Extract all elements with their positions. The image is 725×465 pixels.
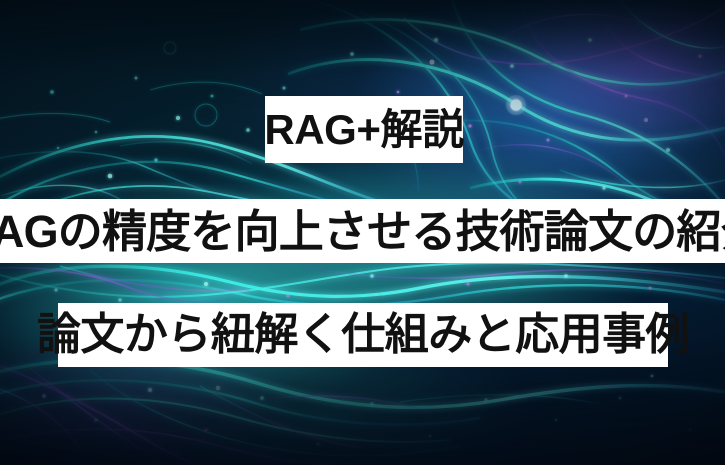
thumbnail-canvas: RAG+解説 RAGの精度を向上させる技術論文の紹介 論文から紐解く仕組みと応用… [0, 0, 725, 465]
eyebrow-text: RAG+解説 [264, 109, 463, 151]
eyebrow-band: RAG+解説 [265, 96, 463, 163]
subtitle-text: 論文から紐解く仕組みと応用事例 [37, 313, 689, 357]
subtitle-band: 論文から紐解く仕組みと応用事例 [58, 303, 668, 367]
headline-text: RAGの精度を向上させる技術論文の紹介 [0, 209, 725, 254]
headline-band: RAGの精度を向上させる技術論文の紹介 [0, 199, 725, 263]
